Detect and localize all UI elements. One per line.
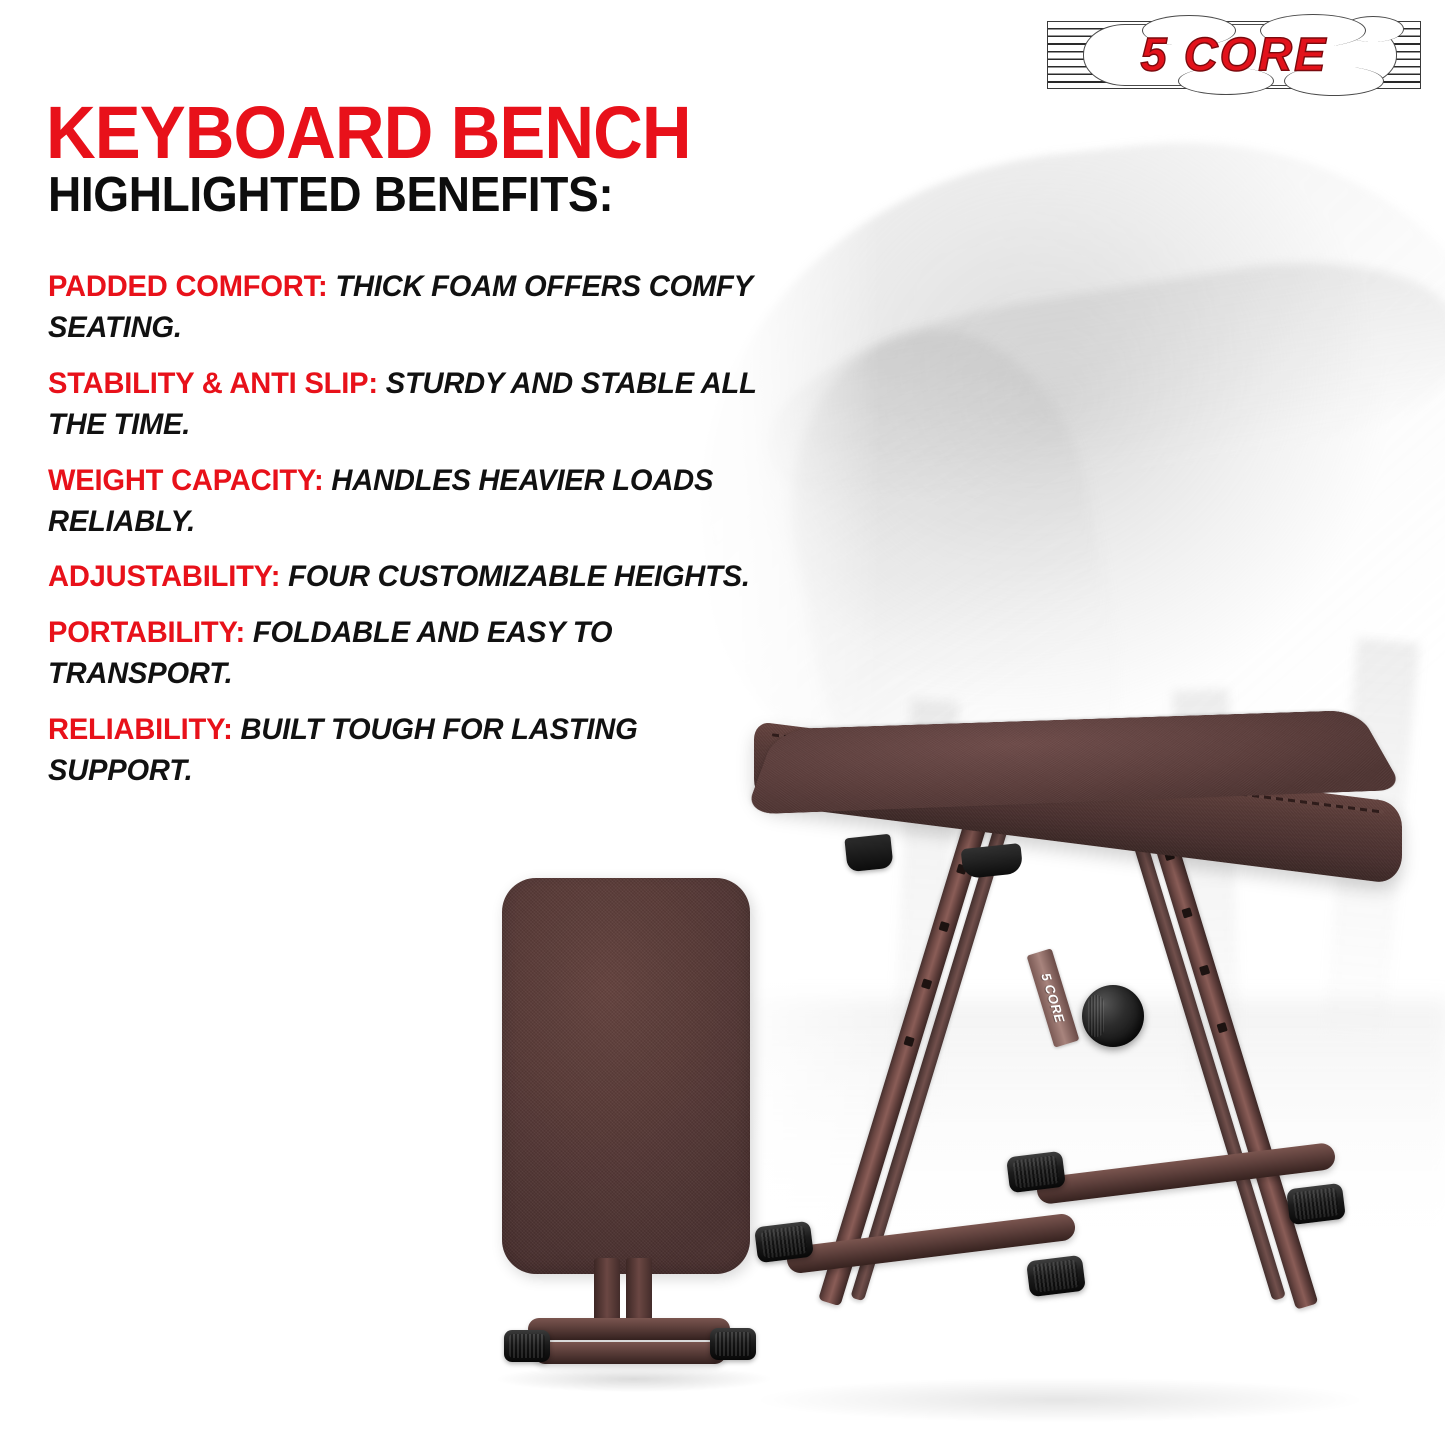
open-bench-shadow <box>760 1378 1360 1422</box>
height-adjust-knob[interactable] <box>1082 985 1144 1047</box>
folded-rubber-foot <box>710 1328 756 1360</box>
seat-bracket <box>844 834 893 873</box>
benefit-item: ADJUSTABILITY: FOUR CUSTOMIZABLE HEIGHTS… <box>48 556 766 597</box>
leg-notch <box>903 1036 914 1047</box>
infographic-canvas: 5 CORE KEYBOARD BENCH HIGHLIGHTED BENEFI… <box>0 0 1445 1445</box>
bench-rubber-foot <box>1286 1183 1346 1226</box>
leg-notch <box>1199 965 1210 976</box>
benefit-label: PADDED COMFORT: <box>48 270 327 303</box>
benefit-label: WEIGHT CAPACITY: <box>48 464 323 497</box>
benefit-description: FOUR CUSTOMIZABLE HEIGHTS. <box>280 560 750 593</box>
folded-rubber-foot <box>504 1330 550 1362</box>
frame-brand-plate-text: 5 CORE <box>1038 971 1067 1025</box>
bench-rubber-foot <box>1006 1151 1066 1194</box>
benefit-item: WEIGHT CAPACITY: HANDLES HEAVIER LOADS R… <box>48 460 766 543</box>
leg-notch <box>939 921 950 932</box>
benefit-item: PADDED COMFORT: THICK FOAM OFFERS COMFY … <box>48 266 766 349</box>
leg-notch <box>1217 1022 1228 1033</box>
benefits-list: PADDED COMFORT: THICK FOAM OFFERS COMFY … <box>48 266 788 805</box>
seat-roller <box>961 843 1024 879</box>
folded-bench-shadow <box>498 1366 770 1392</box>
bench-seat-cushion <box>750 650 1410 860</box>
benefit-label: RELIABILITY: <box>48 713 233 746</box>
leg-notch <box>921 978 932 989</box>
benefit-label: ADJUSTABILITY: <box>48 560 280 593</box>
frame-brand-plate: 5 CORE <box>1027 948 1080 1047</box>
benefit-item: STABILITY & ANTI SLIP: STURDY AND STABLE… <box>48 363 766 446</box>
keyboard-bench-folded <box>488 878 778 1406</box>
logo-text: 5 CORE <box>1047 31 1421 78</box>
folded-base-bar <box>528 1318 730 1340</box>
page-title: KEYBOARD BENCH <box>46 96 691 170</box>
benefit-item: RELIABILITY: BUILT TOUGH FOR LASTING SUP… <box>48 709 766 792</box>
benefit-label: PORTABILITY: <box>48 616 245 649</box>
bench-leg-back-inner <box>1118 792 1286 1301</box>
background-piano-lid <box>750 236 1445 523</box>
bench-rubber-foot <box>1026 1255 1086 1298</box>
benefit-label: STABILITY & ANTI SLIP: <box>48 367 378 400</box>
page-subtitle: HIGHLIGHTED BENEFITS: <box>48 171 613 220</box>
folded-seat-cushion <box>502 878 750 1274</box>
keyboard-bench-open: 5 CORE <box>740 630 1400 1430</box>
benefit-item: PORTABILITY: FOLDABLE AND EASY TO TRANSP… <box>48 612 766 695</box>
leg-notch <box>1181 907 1192 918</box>
folded-base-bar <box>534 1342 726 1364</box>
five-core-logo: 5 CORE <box>1047 21 1421 89</box>
